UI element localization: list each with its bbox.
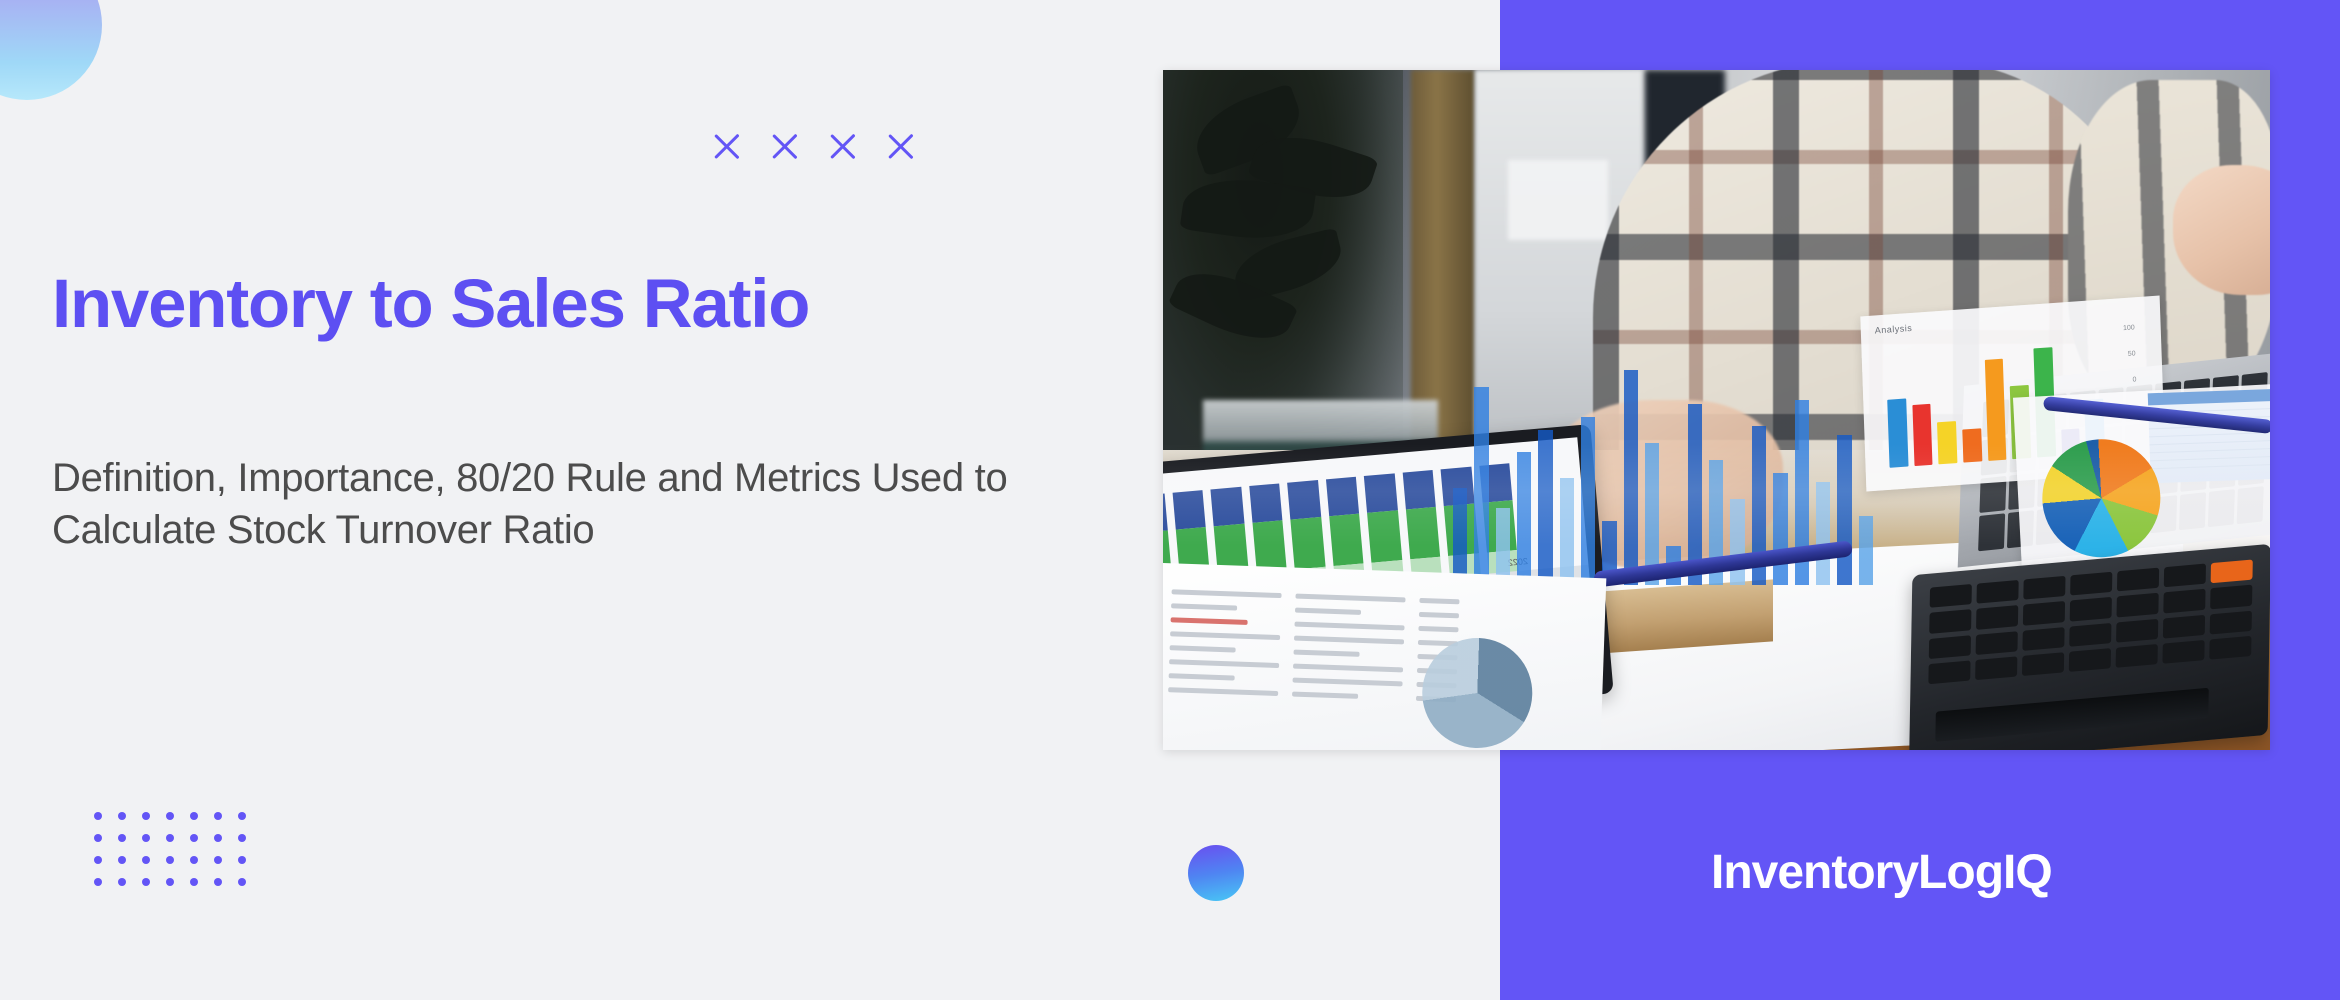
page-subtitle: Definition, Importance, 80/20 Rule and M… [52, 452, 1082, 556]
grid-dot [190, 834, 198, 842]
close-icon [884, 130, 917, 163]
mini-data-table [2148, 388, 2270, 483]
calculator-keys [1928, 559, 2252, 684]
close-icon [768, 130, 801, 163]
printed-report [1163, 562, 1606, 750]
grid-dot [190, 812, 198, 820]
blog-hero-banner: Inventory to Sales Ratio Definition, Imp… [0, 0, 2340, 1000]
page-title: Inventory to Sales Ratio [52, 268, 1112, 340]
grid-dot [166, 878, 174, 886]
grid-dot [238, 856, 246, 864]
dot-grid-decoration [94, 812, 262, 900]
chart-axis-labels: 100500 [2123, 315, 2137, 394]
grid-dot [214, 878, 222, 886]
grid-dot [238, 812, 246, 820]
grid-dot [94, 812, 102, 820]
close-icon [710, 130, 743, 163]
grid-dot [142, 812, 150, 820]
grid-dot [142, 834, 150, 842]
grid-dot [238, 834, 246, 842]
grid-dot [190, 856, 198, 864]
calculator-display [1935, 688, 2208, 742]
gradient-dot-decoration [1188, 845, 1244, 901]
grid-dot [118, 834, 126, 842]
grid-dot [142, 878, 150, 886]
photo-scene: 2022 2021 2020 11,892 Total Sales 13,678… [1163, 70, 2270, 750]
wall-frame [1508, 160, 1608, 240]
brand-logo[interactable]: InventoryLogIQ [1711, 845, 2052, 900]
hero-photo: 2022 2021 2020 11,892 Total Sales 13,678… [1163, 70, 2270, 750]
grid-dot [214, 834, 222, 842]
grid-dot [166, 834, 174, 842]
grid-dot [190, 878, 198, 886]
grid-dot [166, 856, 174, 864]
grid-dot [118, 856, 126, 864]
grid-dot [118, 878, 126, 886]
grid-dot [214, 812, 222, 820]
chart-title: Analysis [1875, 323, 1913, 336]
calculator-orange-key [2211, 559, 2253, 583]
x-marks-decoration [710, 130, 917, 163]
grid-dot [142, 856, 150, 864]
grid-dot [214, 856, 222, 864]
grid-dot [94, 834, 102, 842]
close-icon [826, 130, 859, 163]
grid-dot [118, 812, 126, 820]
grid-dot [166, 812, 174, 820]
calculator [1909, 544, 2270, 750]
grid-dot [94, 856, 102, 864]
grid-dot [238, 878, 246, 886]
pie-chart [2039, 436, 2163, 560]
grid-dot [94, 878, 102, 886]
